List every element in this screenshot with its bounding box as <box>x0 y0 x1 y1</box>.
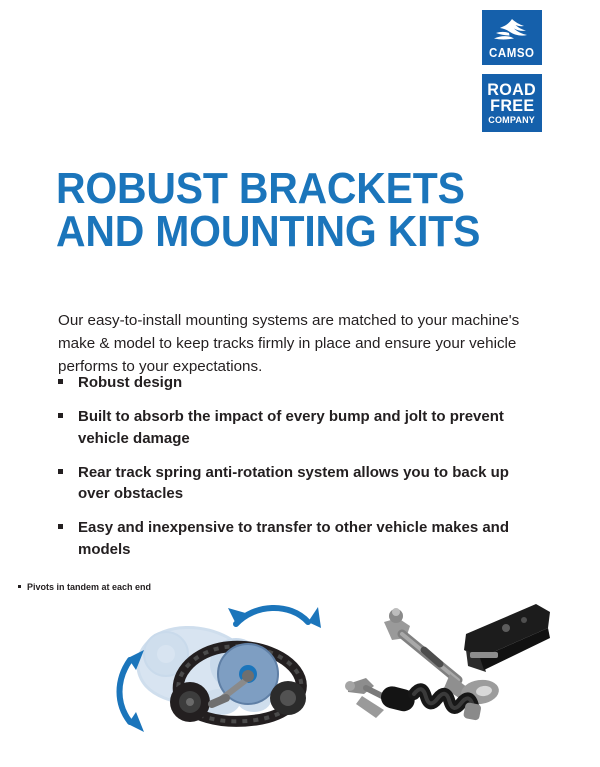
bullet-square-icon <box>58 524 63 529</box>
footnote-label: Pivots in tandem at each end <box>27 582 151 592</box>
road-free-line-3: COMPANY <box>489 116 536 125</box>
camso-wordmark: CAMSO <box>489 47 535 60</box>
track-system-illustration <box>108 598 338 738</box>
camso-chevron-icon <box>492 18 532 44</box>
track-diagram-svg <box>108 598 338 738</box>
page-title-line-2: AND MOUNTING KITS <box>56 211 493 254</box>
feature-list: Robust design Built to absorb the impact… <box>58 372 528 560</box>
intro-paragraph: Our easy-to-install mounting systems are… <box>58 309 528 378</box>
list-item: Built to absorb the impact of every bump… <box>58 406 528 449</box>
bullet-square-icon <box>58 469 63 474</box>
road-free-company-logo-box: ROAD FREE COMPANY <box>482 74 542 132</box>
footnote: Pivots in tandem at each end <box>18 582 151 593</box>
page-title: ROBUST BRACKETS AND MOUNTING KITS <box>56 168 493 253</box>
camso-logo-box: CAMSO <box>482 10 542 65</box>
list-item-label: Rear track spring anti-rotation system a… <box>78 464 509 502</box>
rotational-pivot-arrow <box>228 607 321 628</box>
brand-logo-block: CAMSO ROAD FREE COMPANY <box>482 10 542 132</box>
mounting-bracket-part <box>464 604 550 672</box>
list-item: Robust design <box>58 372 528 393</box>
road-free-line-2: FREE <box>490 98 534 114</box>
bullet-square-icon <box>58 413 63 418</box>
list-item-label: Easy and inexpensive to transfer to othe… <box>78 519 509 557</box>
footnote-bullet-icon <box>18 585 21 588</box>
bullet-square-icon <box>58 379 63 384</box>
list-item-label: Robust design <box>78 374 182 391</box>
mounting-hardware-photo <box>340 592 555 732</box>
page-title-line-1: ROBUST BRACKETS <box>56 168 493 211</box>
rear-wheel <box>270 681 306 715</box>
list-item: Rear track spring anti-rotation system a… <box>58 462 528 505</box>
list-item: Easy and inexpensive to transfer to othe… <box>58 517 528 560</box>
parts-photo-svg <box>340 592 555 732</box>
list-item-label: Built to absorb the impact of every bump… <box>78 408 504 446</box>
idler-wheel <box>170 682 210 722</box>
